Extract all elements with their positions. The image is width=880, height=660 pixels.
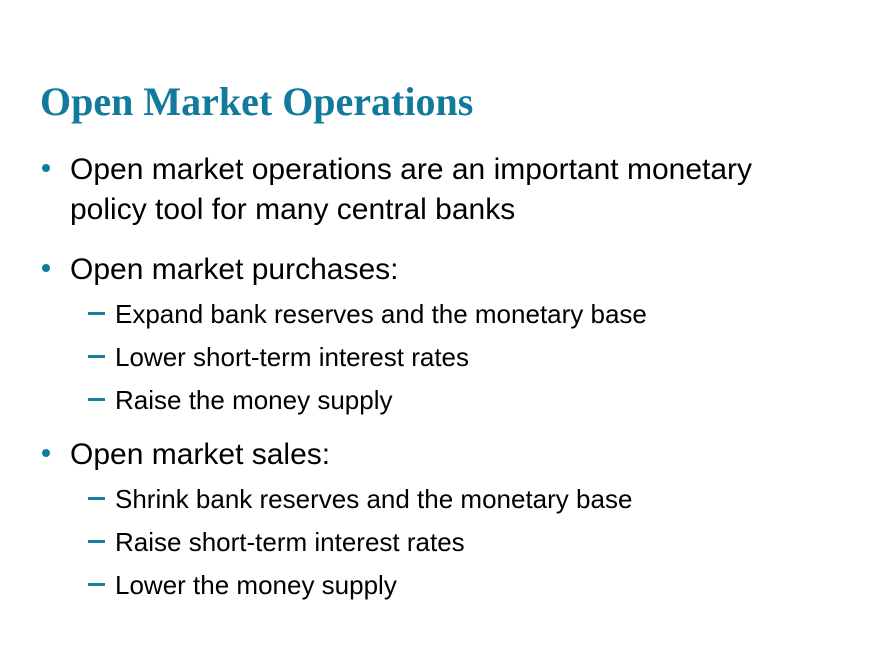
dash-icon — [88, 497, 105, 500]
spacer — [0, 425, 880, 435]
bullet-text: Open market operations are an important … — [70, 153, 752, 226]
page-title: Open Market Operations — [40, 80, 840, 124]
spacer — [0, 236, 880, 250]
sub-bullet-text: Raise short-term interest rates — [115, 527, 465, 557]
sub-bullet-text: Expand bank reserves and the monetary ba… — [115, 299, 647, 329]
bullet-dot-icon — [42, 164, 50, 172]
dash-icon — [88, 540, 105, 543]
sub-bullet-list: Expand bank reserves and the monetary ba… — [0, 296, 880, 419]
sub-bullet-text: Lower short-term interest rates — [115, 342, 469, 372]
dash-icon — [88, 355, 105, 358]
bullet-dot-icon — [42, 264, 50, 272]
slide-body: Open market operations are an important … — [0, 150, 880, 610]
sub-bullet-item: Raise short-term interest rates — [0, 524, 880, 561]
bullet-item: Open market purchases: — [0, 250, 880, 290]
sub-bullet-item: Raise the money supply — [0, 382, 880, 419]
slide-canvas: Open Market Operations Open market opera… — [0, 0, 880, 660]
sub-bullet-text: Raise the money supply — [115, 385, 392, 415]
sub-bullet-item: Lower short-term interest rates — [0, 339, 880, 376]
bullet-text: Open market sales: — [70, 438, 330, 471]
dash-icon — [88, 398, 105, 401]
dash-icon — [88, 312, 105, 315]
dash-icon — [88, 583, 105, 586]
sub-bullet-item: Expand bank reserves and the monetary ba… — [0, 296, 880, 333]
sub-bullet-text: Lower the money supply — [115, 570, 397, 600]
bullet-dot-icon — [42, 449, 50, 457]
sub-bullet-text: Shrink bank reserves and the monetary ba… — [115, 484, 632, 514]
sub-bullet-item: Shrink bank reserves and the monetary ba… — [0, 481, 880, 518]
sub-bullet-item: Lower the money supply — [0, 567, 880, 604]
bullet-text: Open market purchases: — [70, 253, 399, 286]
bullet-item: Open market sales: — [0, 435, 880, 475]
bullet-item: Open market operations are an important … — [0, 150, 880, 230]
sub-bullet-list: Shrink bank reserves and the monetary ba… — [0, 481, 880, 604]
